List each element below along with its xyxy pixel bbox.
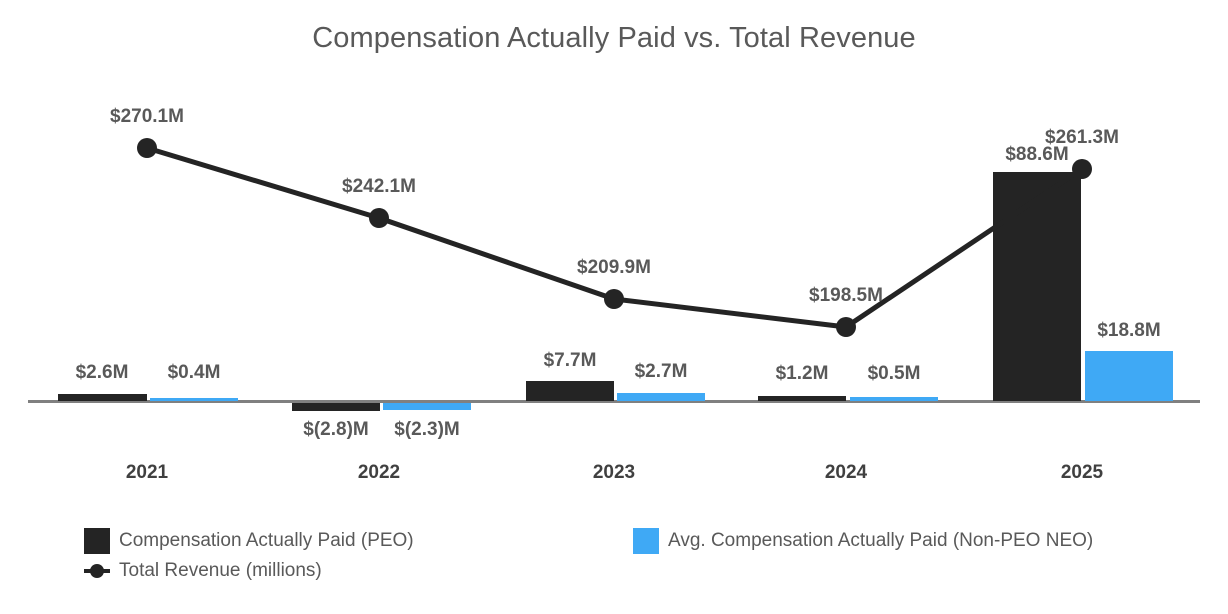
bar-neo-2024[interactable] <box>850 397 938 401</box>
legend-label-neo: Avg. Compensation Actually Paid (Non-PEO… <box>668 530 1093 552</box>
line-label-2021: $270.1M <box>87 106 207 128</box>
bar-neo-2023[interactable] <box>617 393 705 401</box>
x-axis-label-2022: 2022 <box>319 462 439 484</box>
bar-label-neo-2025: $18.8M <box>1069 320 1189 342</box>
bar-peo-2025[interactable] <box>993 172 1081 401</box>
revenue-point-2023[interactable] <box>604 289 624 309</box>
legend-swatch-revenue-line-icon <box>84 558 110 584</box>
legend-item-peo[interactable]: Compensation Actually Paid (PEO) <box>84 528 414 554</box>
bar-peo-2021[interactable] <box>58 394 147 401</box>
x-axis-label-2021: 2021 <box>87 462 207 484</box>
bar-label-peo-2025: $88.6M <box>977 144 1097 166</box>
bar-label-neo-2021: $0.4M <box>134 362 254 384</box>
x-axis-label-2025: 2025 <box>1022 462 1142 484</box>
bar-label-neo-2023: $2.7M <box>601 361 721 383</box>
revenue-line <box>147 148 1082 327</box>
revenue-point-2022[interactable] <box>369 208 389 228</box>
legend-label-revenue: Total Revenue (millions) <box>119 560 322 582</box>
bar-neo-2021[interactable] <box>150 398 238 401</box>
x-axis-label-2024: 2024 <box>786 462 906 484</box>
legend-label-peo: Compensation Actually Paid (PEO) <box>119 530 414 552</box>
chart-container: Compensation Actually Paid vs. Total Rev… <box>0 0 1228 614</box>
line-label-2023: $209.9M <box>554 257 674 279</box>
revenue-point-2024[interactable] <box>836 317 856 337</box>
x-axis-label-2023: 2023 <box>554 462 674 484</box>
legend-item-neo[interactable]: Avg. Compensation Actually Paid (Non-PEO… <box>633 528 1093 554</box>
bar-peo-2022[interactable] <box>292 403 380 411</box>
legend-swatch-peo-icon <box>84 528 110 554</box>
bar-neo-2025[interactable] <box>1085 351 1173 401</box>
legend-item-revenue[interactable]: Total Revenue (millions) <box>84 558 322 584</box>
bar-neo-2022[interactable] <box>383 403 471 410</box>
line-label-2022: $242.1M <box>319 176 439 198</box>
legend-swatch-neo-icon <box>633 528 659 554</box>
line-label-2024: $198.5M <box>786 285 906 307</box>
revenue-point-2021[interactable] <box>137 138 157 158</box>
chart-legend: Compensation Actually Paid (PEO) Total R… <box>0 518 1228 598</box>
bar-peo-2024[interactable] <box>758 396 846 401</box>
bar-label-neo-2024: $0.5M <box>834 363 954 385</box>
bar-peo-2023[interactable] <box>526 381 614 401</box>
bar-label-neo-2022: $(2.3)M <box>367 419 487 441</box>
